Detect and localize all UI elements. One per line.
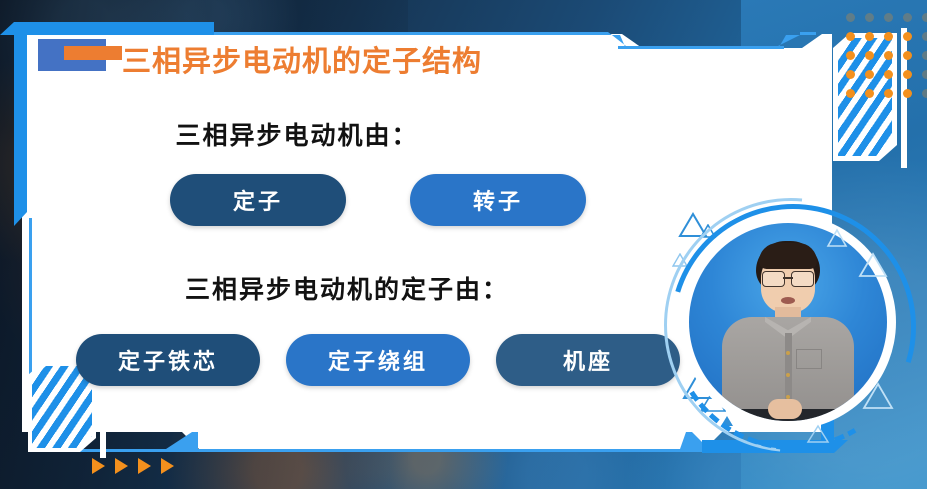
option-pill-dingzi-raozu[interactable]: 定子绕组 [286,334,470,386]
option-pill-zhuanzi[interactable]: 转子 [410,174,586,226]
question-label-1: 三相异步电动机由： [0,116,702,152]
dot [865,13,874,22]
play-arrows-decoration [92,458,174,474]
dot [846,89,855,98]
page-title: 三相异步电动机的定子结构 [122,38,482,80]
dot [922,13,927,22]
dot [846,32,855,41]
dot [884,70,893,79]
title-badge-bar [64,46,122,60]
dot [903,32,912,41]
dot [865,89,874,98]
option-pill-dingzi-tiexin[interactable]: 定子铁芯 [76,334,260,386]
presenter-pocket [796,349,822,369]
option-pill-jizuo[interactable]: 机座 [496,334,680,386]
play-arrow-icon [161,458,174,474]
dot [865,70,874,79]
triangle-outline-icon [862,382,894,410]
presenter-hands [768,399,802,419]
dot-grid-decoration [841,8,927,103]
play-arrow-icon [138,458,151,474]
dot [865,32,874,41]
play-arrow-icon [92,458,105,474]
dot [903,89,912,98]
dot [884,89,893,98]
dot [846,70,855,79]
presenter-mouth [781,297,795,304]
slide-stage: 三相异步电动机的定子结构 三相异步电动机由： 定子 转子 三相异步电动机的定子由… [0,0,927,489]
triangle-outline-icon [806,424,830,444]
play-arrow-icon [115,458,128,474]
dot [846,51,855,60]
presenter-fringe [759,243,817,269]
triangle-outline-icon [826,228,848,248]
shirt-button [786,351,790,355]
triangle-outline-icon [858,252,888,278]
dot [922,51,927,60]
dot [922,70,927,79]
dot [884,13,893,22]
dot [846,13,855,22]
dot [884,32,893,41]
option-pill-dingzi[interactable]: 定子 [170,174,346,226]
dot [903,51,912,60]
dot [865,51,874,60]
dot [922,32,927,41]
dot [903,70,912,79]
dot [903,13,912,22]
dot [922,89,927,98]
glasses-icon [762,271,814,285]
question-label-2: 三相异步电动机的定子由： [0,270,752,306]
dot [884,51,893,60]
shirt-button [786,373,790,377]
